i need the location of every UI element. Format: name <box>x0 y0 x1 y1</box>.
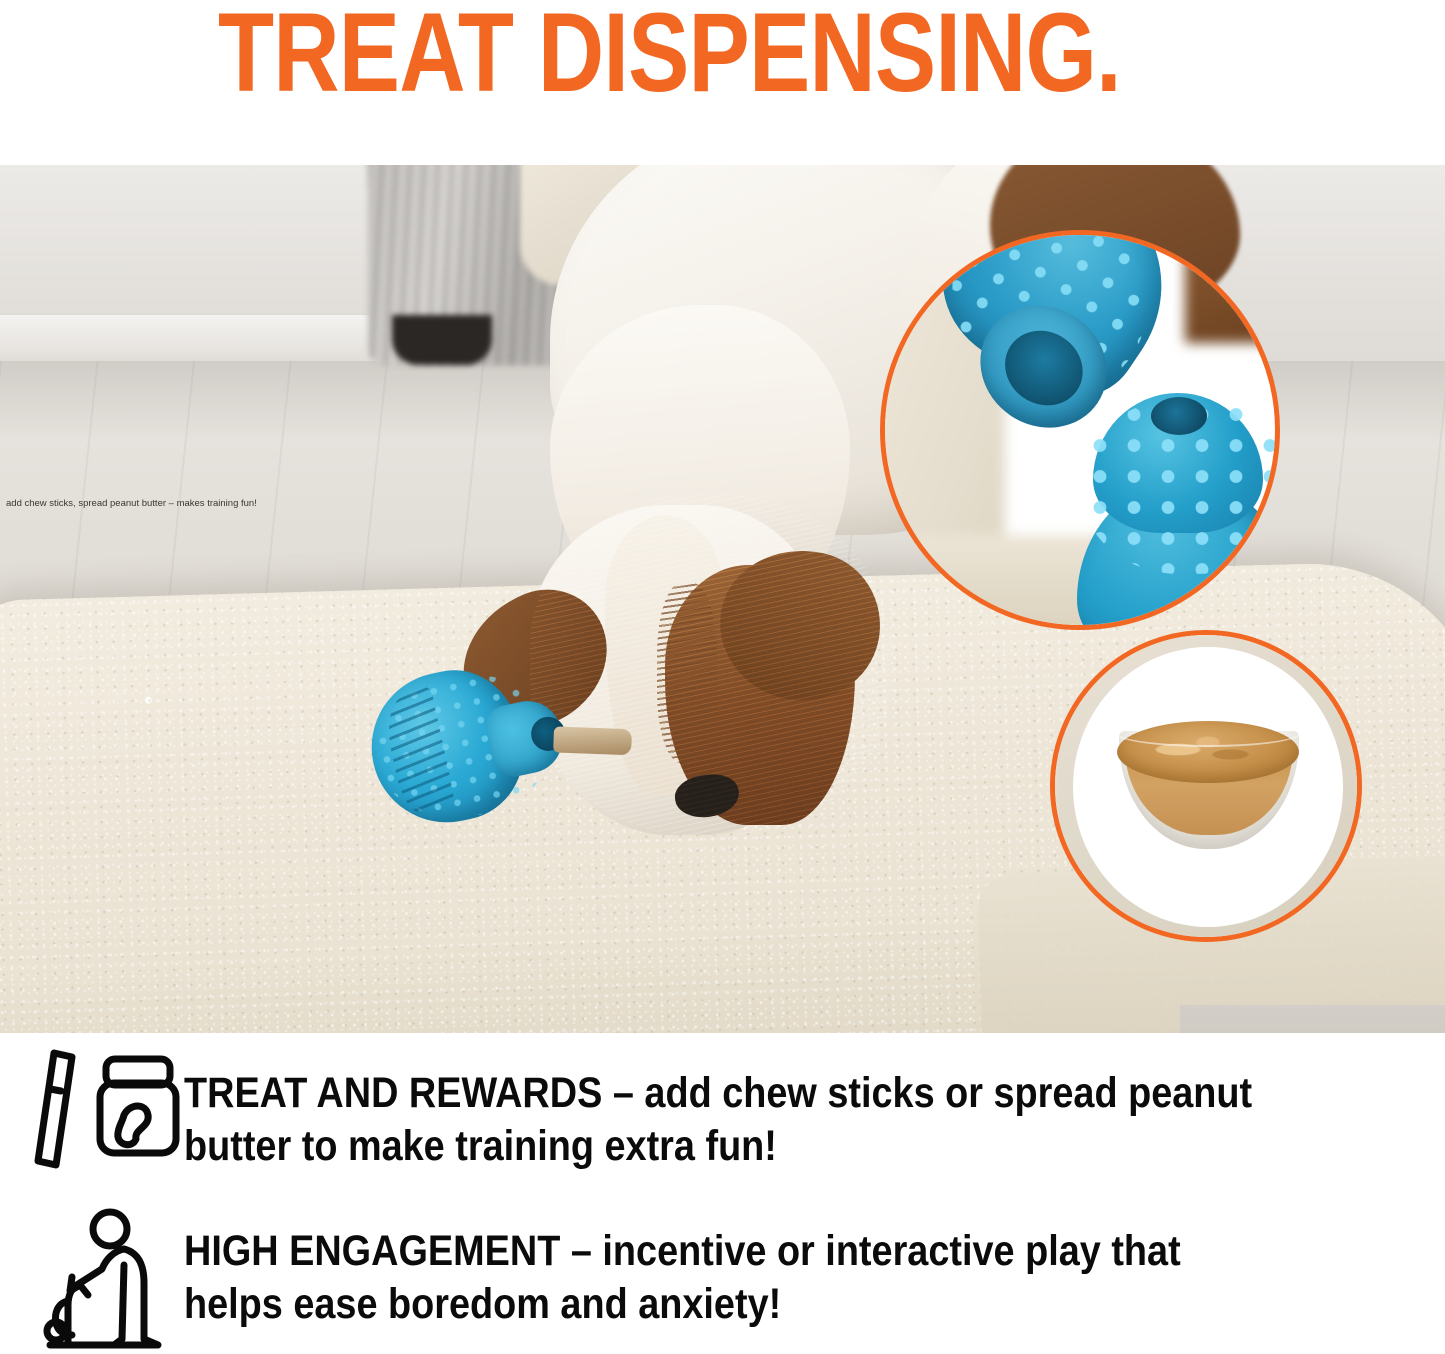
feature-treat-and-rewards: TREAT AND REWARDS – add chew sticks or s… <box>28 1047 1424 1193</box>
chew-stick-and-peanut-butter-jar-icon <box>28 1047 184 1193</box>
page-title: TREAT DISPENSING. <box>218 0 1121 112</box>
inset-product-closeup <box>880 230 1280 630</box>
headline-band: TREAT DISPENSING. <box>0 0 1445 165</box>
feature-high-engagement: HIGH ENGAGEMENT – incentive or interacti… <box>28 1205 1424 1351</box>
chew-stick <box>553 726 632 755</box>
feature-title-2: HIGH ENGAGEMENT <box>184 1227 560 1275</box>
feature-title-1: TREAT AND REWARDS <box>184 1069 602 1117</box>
feature-text-treat-and-rewards: TREAT AND REWARDS – add chew sticks or s… <box>184 1047 1275 1173</box>
glass-bowl-rim <box>1115 719 1301 747</box>
toy-lower <box>1077 385 1280 630</box>
person-playing-with-dog-icon <box>28 1205 184 1351</box>
feature-separator-2: – <box>560 1227 602 1275</box>
hero-photo: add chew sticks, spread peanut butter – … <box>0 165 1445 1033</box>
product-infographic: TREAT DISPENSING. <box>0 0 1445 1354</box>
toy-lower-opening <box>1151 397 1207 435</box>
floor-right-strip <box>1180 1005 1445 1033</box>
feature-separator-1: – <box>602 1069 644 1117</box>
dog-fur-texture <box>530 495 890 835</box>
feature-list: TREAT AND REWARDS – add chew sticks or s… <box>0 1033 1445 1354</box>
inset-peanut-butter <box>1050 630 1362 942</box>
feature-text-high-engagement: HIGH ENGAGEMENT – incentive or interacti… <box>184 1205 1275 1331</box>
photo-caption: add chew sticks, spread peanut butter – … <box>6 498 257 510</box>
